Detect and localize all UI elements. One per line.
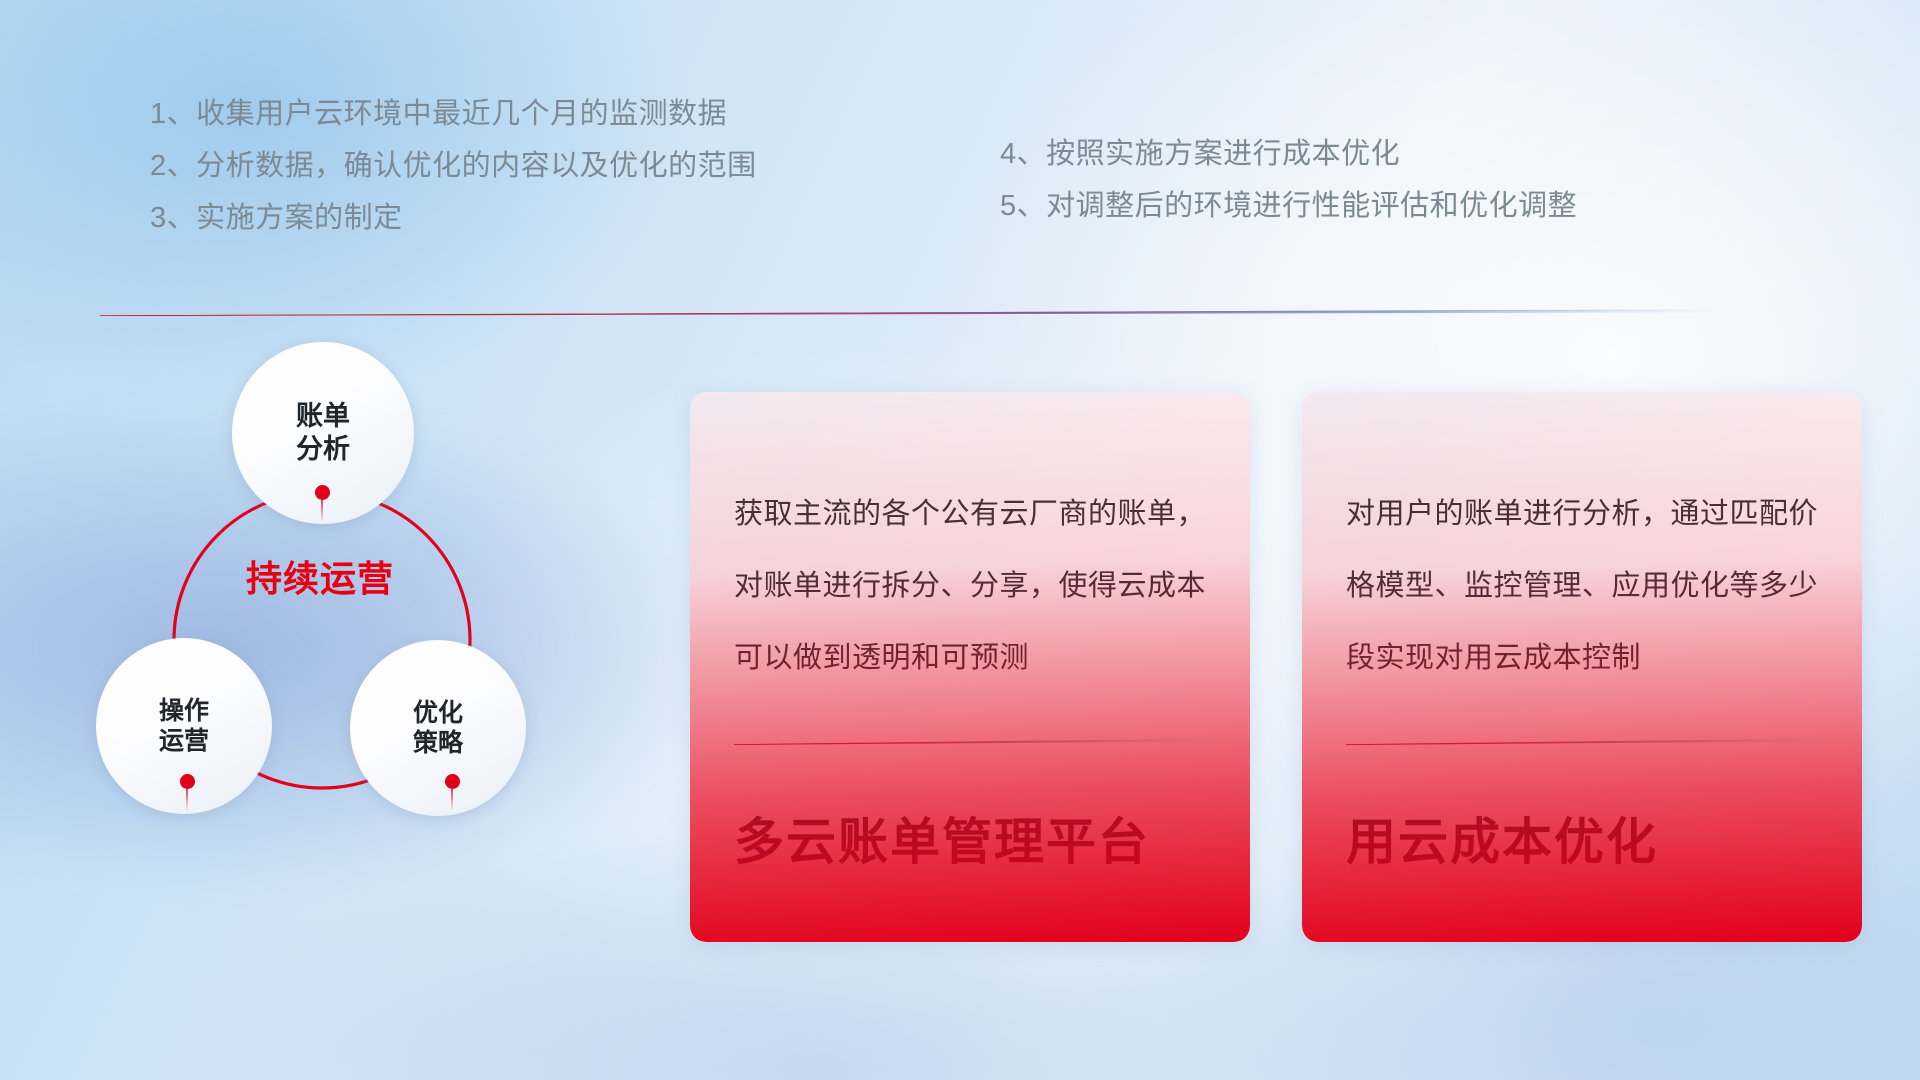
card-2-body: 对用户的账单进行分析，通过匹配价格模型、监控管理、应用优化等多少段实现对用云成本… [1346, 478, 1826, 694]
ring-dot-right [445, 774, 460, 789]
node-right-line1: 优化 [413, 698, 463, 729]
ring-tail-top [321, 500, 323, 522]
card-1-title: 多云账单管理平台 [734, 802, 1150, 874]
card-1-divider [734, 732, 1206, 740]
step-item-2: 2、分析数据，确认优化的内容以及优化的范围 [150, 140, 850, 192]
node-left-line2: 运营 [159, 726, 209, 757]
card-1-divider-shape [734, 737, 1206, 745]
step-item-4: 4、按照实施方案进行成本优化 [1000, 128, 1760, 180]
steps-right-column: 4、按照实施方案进行成本优化 5、对调整后的环境进行性能评估和优化调整 [1000, 128, 1760, 232]
steps-list: 1、收集用户云环境中最近几个月的监测数据 2、分析数据，确认优化的内容以及优化的… [0, 88, 1920, 268]
card-1-body: 获取主流的各个公有云厂商的账单，对账单进行拆分、分享，使得云成本可以做到透明和可… [734, 478, 1214, 694]
node-top-line1: 账单 [296, 400, 350, 433]
ring-dot-left [180, 774, 195, 789]
card-2-divider-shape [1346, 737, 1818, 745]
steps-left-column: 1、收集用户云环境中最近几个月的监测数据 2、分析数据，确认优化的内容以及优化的… [150, 88, 850, 244]
card-2-title: 用云成本优化 [1346, 802, 1658, 874]
step-item-1: 1、收集用户云环境中最近几个月的监测数据 [150, 88, 850, 140]
diagram-center-label: 持续运营 [230, 558, 410, 600]
card-multicloud-billing-platform[interactable]: 获取主流的各个公有云厂商的账单，对账单进行拆分、分享，使得云成本可以做到透明和可… [690, 392, 1250, 942]
step-item-5: 5、对调整后的环境进行性能评估和优化调整 [1000, 180, 1760, 232]
node-right-line2: 策略 [413, 728, 463, 759]
ring-tail-left [186, 789, 188, 811]
step-item-3: 3、实施方案的制定 [150, 192, 850, 244]
top-divider [100, 306, 1720, 316]
card-cloud-cost-optimization[interactable]: 对用户的账单进行分析，通过匹配价格模型、监控管理、应用优化等多少段实现对用云成本… [1302, 392, 1862, 942]
ring-tail-right [451, 789, 453, 811]
ring-dot-top [315, 485, 330, 500]
node-top-line2: 分析 [296, 433, 350, 466]
card-2-divider [1346, 732, 1818, 740]
node-left-line1: 操作 [159, 696, 209, 727]
top-divider-shape [100, 306, 1720, 316]
diagram-node-optimization-strategy[interactable]: 优化 策略 [350, 640, 526, 816]
continuous-operations-diagram: 账单 分析 操作 运营 优化 策略 持续运营 [100, 350, 640, 950]
